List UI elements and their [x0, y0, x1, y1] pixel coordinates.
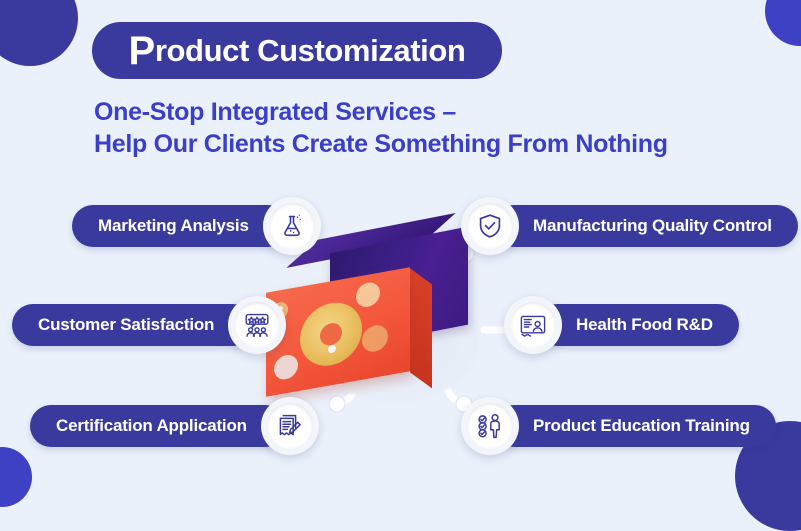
- feature-icon-badge: [263, 197, 321, 255]
- feature-icon-badge: [504, 296, 562, 354]
- feature-label: Customer Satisfaction: [38, 315, 214, 335]
- certificate-icon: [510, 302, 556, 348]
- feature-label: Health Food R&D: [576, 315, 713, 335]
- flask-icon: [269, 203, 315, 249]
- feature-item-marketing-analysis[interactable]: Marketing Analysis: [72, 203, 321, 249]
- product-boxes-illustration: [258, 236, 528, 406]
- feature-label: Marketing Analysis: [98, 216, 249, 236]
- feature-label-pill: Customer Satisfaction: [12, 304, 254, 346]
- feature-icon-badge: [228, 296, 286, 354]
- feature-label-pill: Manufacturing Quality Control: [493, 205, 798, 247]
- orange-box-side-face: [410, 268, 432, 388]
- box-pattern-dot: [356, 281, 380, 309]
- feature-label: Manufacturing Quality Control: [533, 216, 772, 236]
- feature-item-health-food-rd[interactable]: Health Food R&D: [504, 302, 739, 348]
- feature-label-pill: Marketing Analysis: [72, 205, 289, 247]
- checklist-person-icon: [467, 403, 513, 449]
- box-gold-medallion: [300, 298, 362, 371]
- feature-item-customer-satisfaction[interactable]: Customer Satisfaction: [12, 302, 286, 348]
- shield-check-icon: [467, 203, 513, 249]
- feature-item-manufacturing-quality[interactable]: Manufacturing Quality Control: [461, 203, 798, 249]
- rating-people-icon: [234, 302, 280, 348]
- feature-icon-badge: [261, 397, 319, 455]
- box-pattern-dot: [274, 353, 298, 381]
- feature-item-certification-application[interactable]: Certification Application: [30, 403, 319, 449]
- feature-label-pill: Product Education Training: [493, 405, 776, 447]
- feature-item-product-education-training[interactable]: Product Education Training: [461, 403, 776, 449]
- infographic-canvas: Product Customization One-Stop Integrate…: [0, 0, 801, 481]
- box-pattern-dot: [362, 323, 388, 354]
- feature-label-pill: Health Food R&D: [536, 304, 739, 346]
- document-pencil-icon: [267, 403, 313, 449]
- feature-icon-badge: [461, 397, 519, 455]
- feature-icon-badge: [461, 197, 519, 255]
- feature-label-pill: Certification Application: [30, 405, 287, 447]
- feature-label: Certification Application: [56, 416, 247, 436]
- feature-label: Product Education Training: [533, 416, 750, 436]
